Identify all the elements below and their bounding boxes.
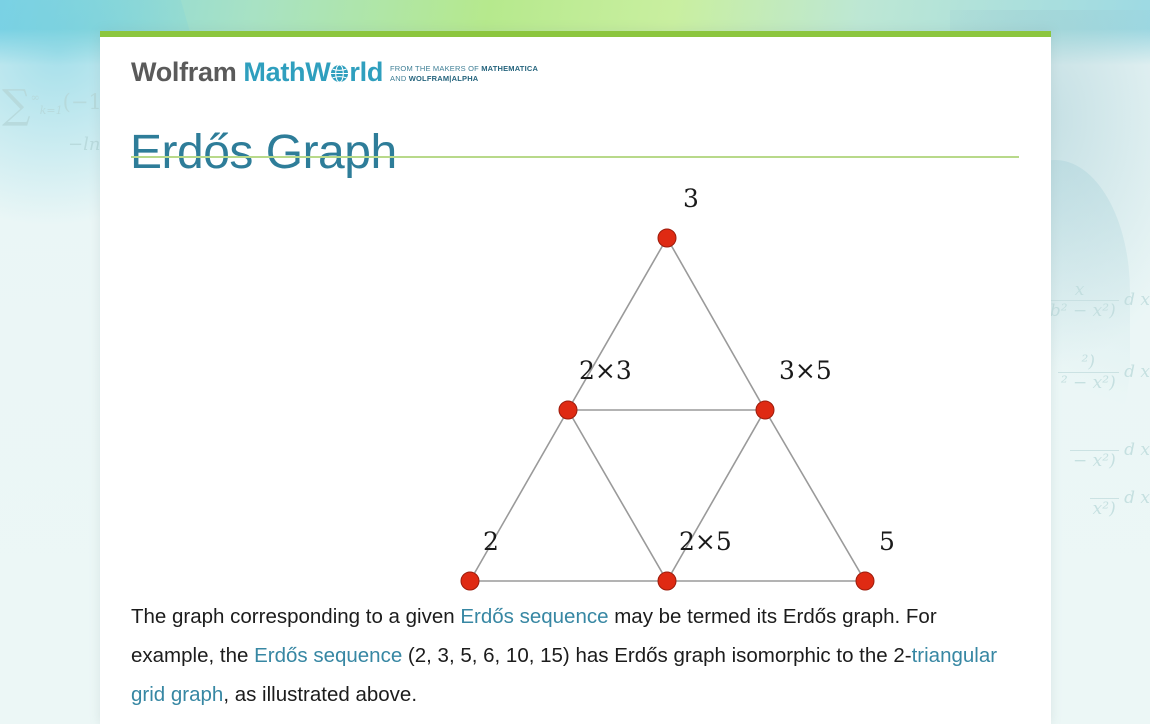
graph-vertex-label-apex: 3 xyxy=(683,184,699,213)
logo-mathworld-suffix: rld xyxy=(349,59,383,86)
integral-4-differential: d x xyxy=(1124,488,1150,508)
link-erdos-sequence-1[interactable]: Erdős sequence xyxy=(460,605,608,628)
integral-3-numerator xyxy=(1070,430,1119,451)
summation-upper-limit: ∞ xyxy=(31,91,40,104)
summation-lower-limit: k=1 xyxy=(40,104,63,117)
content-card: Wolfram MathW rld From the makers of Mat… xyxy=(100,31,1051,724)
background-formula-integral-4: x²) d x xyxy=(1090,478,1150,519)
erdos-graph-figure: 32×33×522×55 xyxy=(131,165,1019,595)
logo-tagline: From the makers of Mathematica and Wolfr… xyxy=(390,64,538,86)
logo-mathworld-text: MathW rld xyxy=(243,59,383,86)
graph-vertex-apex xyxy=(658,229,676,247)
graph-edge-mid-right-bottom-right xyxy=(765,410,865,581)
summation-sigma-icon: ∑ xyxy=(2,82,31,128)
integral-2-differential: d x xyxy=(1124,362,1150,382)
integral-4-denominator: x²) xyxy=(1090,499,1119,519)
graph-vertex-label-mid-left: 2×3 xyxy=(579,356,632,385)
tagline-brand-wolframalpha: Wolfram|Alpha xyxy=(409,74,479,83)
background-formula-ln: −ln xyxy=(68,134,100,155)
integral-4-numerator xyxy=(1090,478,1119,499)
graph-edge-mid-left-bottom-mid xyxy=(568,410,667,581)
title-divider xyxy=(131,156,1019,158)
link-erdos-sequence-2[interactable]: Erdős sequence xyxy=(254,644,402,667)
body-segment-4: , as illustrated above. xyxy=(223,683,417,706)
graph-vertex-label-bottom-left: 2 xyxy=(483,527,499,556)
article-body: The graph corresponding to a given Erdős… xyxy=(131,597,1019,714)
body-segment-3: (2, 3, 5, 6, 10, 15) has Erdős graph iso… xyxy=(402,644,911,667)
integral-3-differential: d x xyxy=(1124,440,1150,460)
globe-icon xyxy=(330,61,349,80)
graph-vertex-bottom-right xyxy=(856,572,874,590)
graph-vertex-mid-right xyxy=(756,401,774,419)
graph-vertex-labels: 32×33×522×55 xyxy=(483,184,895,556)
graph-edges xyxy=(470,238,865,581)
graph-vertex-label-mid-right: 3×5 xyxy=(779,356,832,385)
site-logo[interactable]: Wolfram MathW rld From the makers of Mat… xyxy=(131,59,538,86)
graph-vertex-bottom-mid xyxy=(658,572,676,590)
logo-mathworld-prefix: MathW xyxy=(243,59,330,86)
tagline-prefix-1: From the makers of xyxy=(390,64,481,73)
graph-vertex-label-bottom-right: 5 xyxy=(879,527,895,556)
tagline-brand-mathematica: Mathematica xyxy=(481,64,538,73)
integral-2-numerator: ²) xyxy=(1058,352,1119,373)
background-formula-integral-2: ²) ² − x²) d x xyxy=(1058,352,1150,393)
background-formula-integral-1: x (b² − x²) d x xyxy=(1040,280,1150,321)
tagline-prefix-2: and xyxy=(390,74,409,83)
graph-vertex-bottom-left xyxy=(461,572,479,590)
integral-3-denominator: − x²) xyxy=(1070,451,1119,471)
tagline-line-1: From the makers of Mathematica xyxy=(390,64,538,73)
integral-2-denominator: ² − x²) xyxy=(1058,373,1119,393)
background-formula-integral-3: − x²) d x xyxy=(1070,430,1150,471)
body-segment-1: The graph corresponding to a given xyxy=(131,605,460,628)
integral-1-numerator: x xyxy=(1040,280,1118,301)
integral-1-differential: d x xyxy=(1124,290,1150,310)
graph-vertex-mid-left xyxy=(559,401,577,419)
erdos-graph-svg: 32×33×522×55 xyxy=(131,165,1019,595)
tagline-line-2: and Wolfram|Alpha xyxy=(390,74,478,83)
graph-vertex-label-bottom-mid: 2×5 xyxy=(679,527,732,556)
graph-edge-apex-mid-right xyxy=(667,238,765,410)
logo-wolfram-text: Wolfram xyxy=(131,59,236,86)
integral-1-denominator: (b² − x²) xyxy=(1040,301,1118,321)
